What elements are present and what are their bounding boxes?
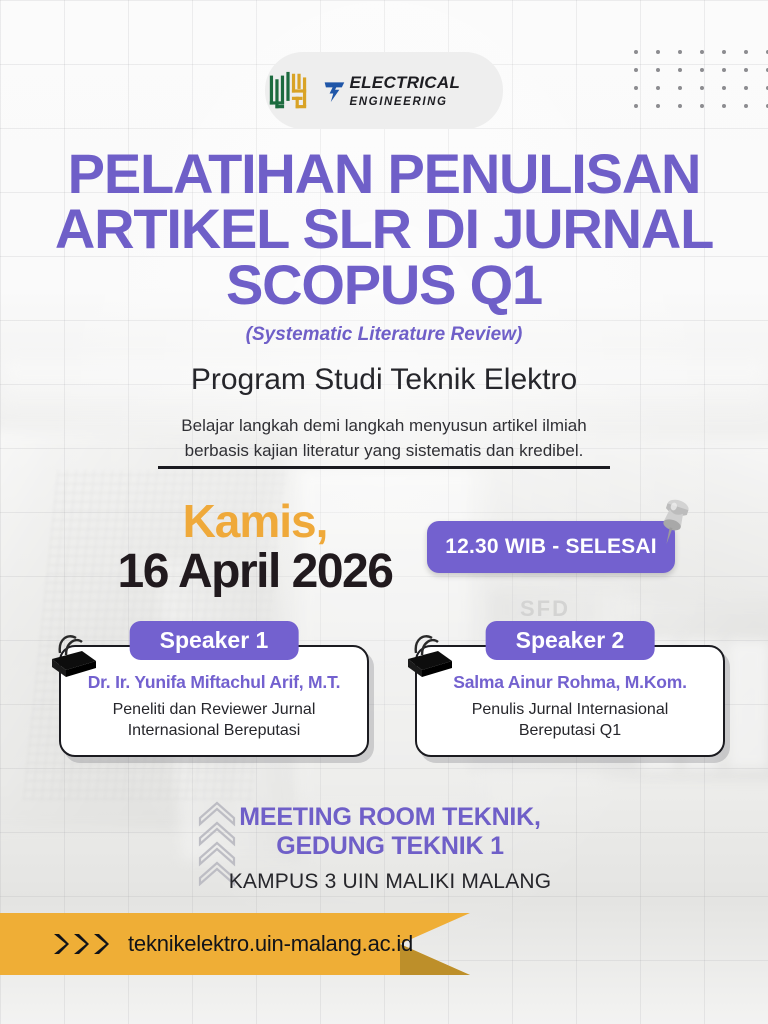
- speaker-role: Peneliti dan Reviewer Jurnal Internasion…: [61, 699, 367, 742]
- speaker-role: Penulis Jurnal Internasional Bereputasi …: [417, 699, 723, 742]
- electrical-engineering-logo: ELECTRICAL ENGINEERING: [321, 73, 503, 109]
- title-expansion: (Systematic Literature Review): [0, 324, 768, 346]
- logo-line-2: ENGINEERING: [349, 96, 447, 108]
- speaker-role-line-2: Bereputasi Q1: [417, 720, 723, 741]
- footer-ribbon: teknikelektro.uin-malang.ac.id: [0, 913, 470, 975]
- logo-line-1: ELECTRICAL: [349, 73, 460, 92]
- title-block: PELATIHAN PENULISAN ARTIKEL SLR DI JURNA…: [0, 146, 768, 346]
- description-line-2: berbasis kajian literatur yang sistemati…: [0, 439, 768, 464]
- speaker-role-line-1: Peneliti dan Reviewer Jurnal: [61, 699, 367, 720]
- program-name: Program Studi Teknik Elektro: [0, 363, 768, 397]
- venue-name: MEETING ROOM TEKNIK, GEDUNG TEKNIK 1: [160, 803, 620, 861]
- speaker-tag: Speaker 1: [130, 621, 299, 660]
- double-chevron-right-icon: [52, 932, 110, 956]
- title-line-1: PELATIHAN PENULISAN: [0, 146, 768, 201]
- title-line-2: ARTIKEL SLR DI JURNAL: [0, 201, 768, 256]
- event-date: 16 April 2026: [60, 548, 450, 596]
- pushpin-icon: [651, 497, 695, 547]
- website-url: teknikelektro.uin-malang.ac.id: [128, 931, 413, 957]
- title-line-3: SCOPUS Q1: [0, 257, 768, 312]
- speaker-card: Speaker 2 Salma Ainur Rohma, M.Kom. Penu…: [415, 645, 725, 757]
- speaker-role-line-2: Internasional Bereputasi: [61, 720, 367, 741]
- event-day: Kamis,: [60, 498, 450, 544]
- binder-clip-icon: [46, 629, 108, 685]
- uin-hexagon-calligraphy-logo: [265, 67, 311, 115]
- event-time-badge: 12.30 WIB - SELESAI: [427, 521, 675, 573]
- event-poster: SFDTEKNIK ELEKTRO: [0, 0, 768, 1024]
- binder-clip-icon: [402, 629, 464, 685]
- dot-matrix-decoration: [634, 50, 768, 122]
- divider-rule: [158, 466, 610, 469]
- poster-title: PELATIHAN PENULISAN ARTIKEL SLR DI JURNA…: [0, 146, 768, 312]
- speaker-tag: Speaker 2: [486, 621, 655, 660]
- event-time: 12.30 WIB - SELESAI: [445, 535, 657, 559]
- speaker-card: Speaker 1 Dr. Ir. Yunifa Miftachul Arif,…: [59, 645, 369, 757]
- venue-line-2: GEDUNG TEKNIK 1: [160, 832, 620, 861]
- speaker-role-line-1: Penulis Jurnal Internasional: [417, 699, 723, 720]
- description: Belajar langkah demi langkah menyusun ar…: [0, 414, 768, 463]
- description-line-1: Belajar langkah demi langkah menyusun ar…: [0, 414, 768, 439]
- venue-campus: KAMPUS 3 UIN MALIKI MALANG: [160, 870, 620, 894]
- logo-pill: ELECTRICAL ENGINEERING: [265, 52, 503, 129]
- venue-block: MEETING ROOM TEKNIK, GEDUNG TEKNIK 1 KAM…: [160, 803, 620, 894]
- event-date-block: Kamis, 16 April 2026: [60, 498, 450, 596]
- venue-line-1: MEETING ROOM TEKNIK,: [160, 803, 620, 832]
- lightning-bolt-icon: [321, 74, 345, 108]
